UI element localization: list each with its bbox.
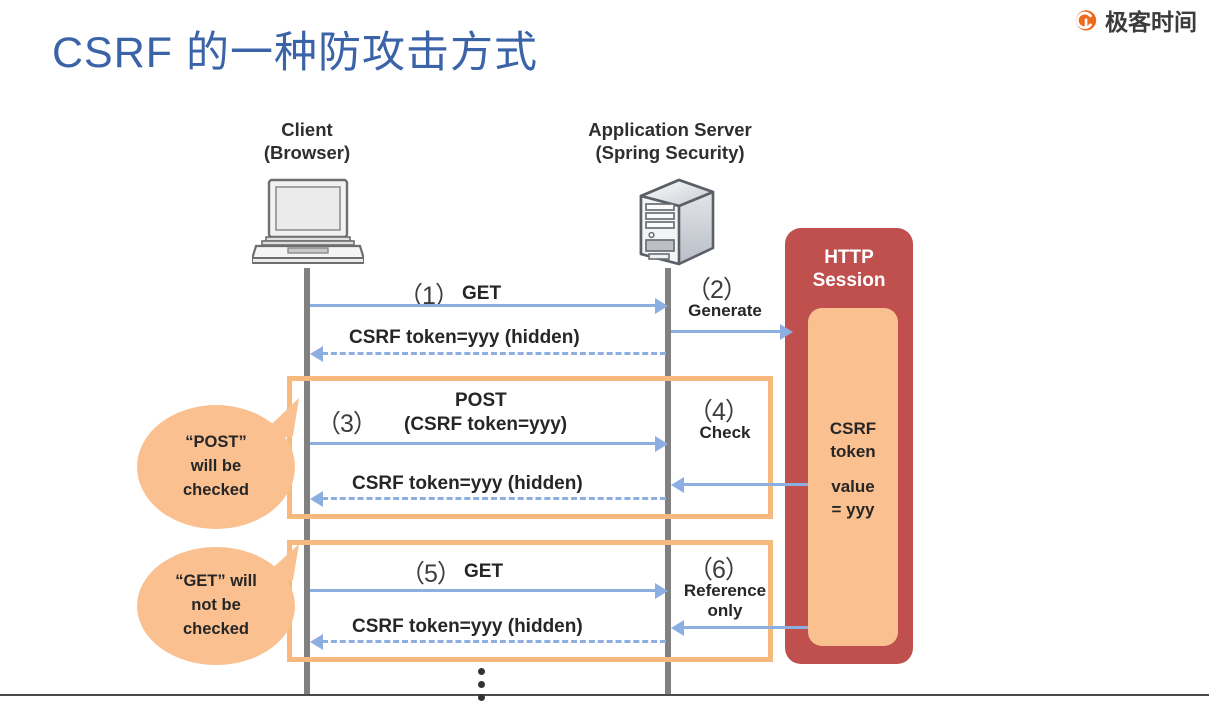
step-6-label: Reference only: [667, 581, 783, 622]
actor-server-line1: Application Server: [588, 119, 751, 140]
callout-post-line3: checked: [183, 481, 249, 499]
geektime-circle-icon: [1073, 9, 1099, 35]
step-1-response-arrow-line: [322, 352, 666, 355]
actor-client-line2: (Browser): [264, 142, 350, 163]
step-6-arrow-line: [683, 626, 808, 629]
step-2-label: Generate: [671, 301, 779, 321]
footer-divider: [0, 694, 1209, 696]
step-1-arrow-line: [310, 304, 658, 307]
step-5-response-arrow-line: [322, 640, 666, 643]
step-3-arrow-head: [655, 436, 668, 452]
session-token-text: CSRF token value = yyy: [808, 418, 898, 521]
slide-canvas: CSRF 的一种防攻击方式 极客时间 Client (Browser) Appl…: [0, 0, 1209, 702]
callout-get-line1: “GET” will: [175, 572, 257, 590]
step-6-label-line1: Reference: [684, 581, 766, 600]
step-5-label: GET: [464, 561, 503, 583]
step-3-response-arrow-line: [322, 497, 666, 500]
callout-post: “POST” will be checked: [137, 405, 295, 529]
step-5-response-arrow-head: [310, 634, 323, 650]
step-4-arrow-line: [683, 483, 808, 486]
callout-get: “GET” will not be checked: [137, 547, 295, 665]
step-2-arrow-head: [780, 324, 793, 340]
step-3-label-line2: (CSRF token=yyy): [404, 414, 567, 436]
callout-post-line1: “POST”: [185, 433, 246, 451]
step-5-response-label: CSRF token=yyy (hidden): [352, 616, 583, 638]
step-1-response-arrow-head: [310, 346, 323, 362]
step-1-response-label: CSRF token=yyy (hidden): [349, 327, 580, 349]
actor-server-line2: (Spring Security): [595, 142, 744, 163]
step-3-label-line1: POST: [455, 390, 507, 412]
http-session-title: HTTP Session: [785, 246, 913, 292]
step-3-number: （3）: [316, 404, 377, 440]
http-session-title-line2: Session: [813, 270, 886, 291]
session-token-line2: token: [830, 442, 875, 461]
step-3-response-arrow-head: [310, 491, 323, 507]
step-6-label-line2: only: [708, 601, 743, 620]
step-3-response-label: CSRF token=yyy (hidden): [352, 473, 583, 495]
step-1-label: GET: [462, 283, 501, 305]
step-4-arrow-head: [671, 477, 684, 493]
server-tower-icon: [627, 176, 719, 268]
session-token-line4: = yyy: [831, 500, 874, 519]
actor-label-client: Client (Browser): [207, 118, 407, 164]
http-session-title-line1: HTTP: [824, 247, 874, 268]
step-1-arrow-head: [655, 298, 668, 314]
laptop-icon: [252, 177, 364, 265]
actor-label-server: Application Server (Spring Security): [545, 118, 795, 164]
actor-client-line1: Client: [281, 119, 332, 140]
step-3-arrow-line: [310, 442, 658, 445]
continuation-ellipsis: [478, 668, 487, 702]
session-token-line3: value: [831, 477, 874, 496]
step-6-arrow-head: [671, 620, 684, 636]
callout-get-line3: checked: [183, 620, 249, 638]
brand-logo-text: 极客时间: [1105, 11, 1197, 34]
brand-logo: 极客时间: [1073, 9, 1197, 35]
callout-post-line2: will be: [191, 457, 241, 475]
session-token-line1: CSRF: [830, 419, 876, 438]
step-5-arrow-line: [310, 589, 658, 592]
page-title: CSRF 的一种防攻击方式: [52, 18, 538, 80]
callout-get-line2: not be: [191, 596, 241, 614]
step-2-arrow-line: [671, 330, 783, 333]
step-4-label: Check: [671, 423, 779, 443]
step-5-number: （5）: [400, 554, 461, 590]
